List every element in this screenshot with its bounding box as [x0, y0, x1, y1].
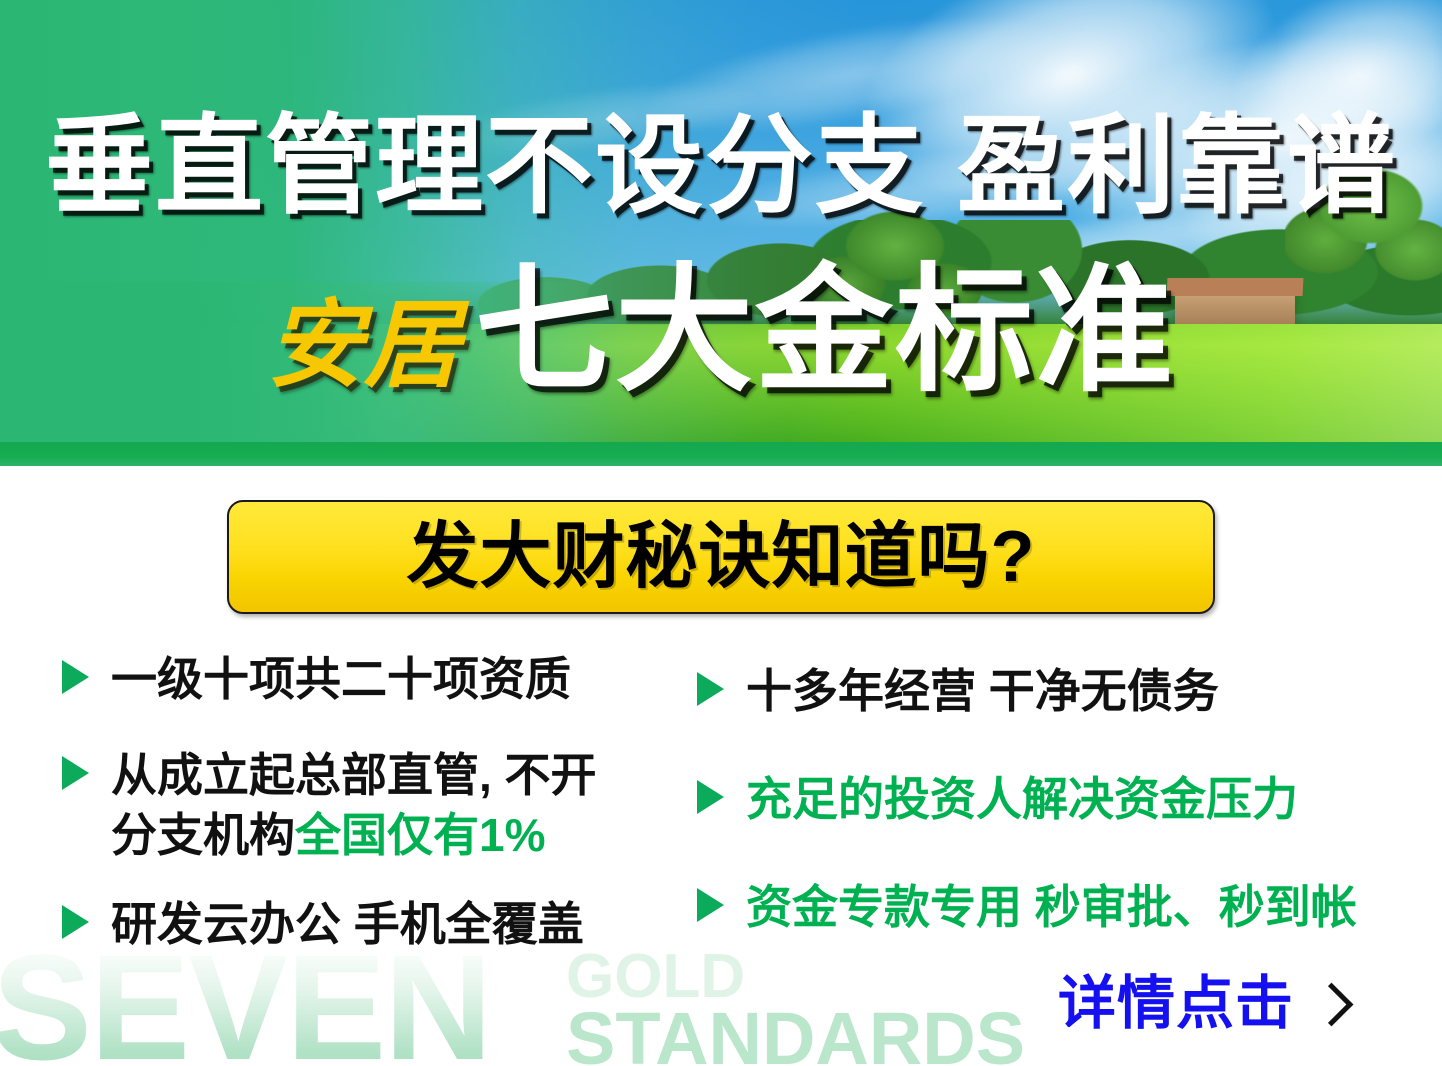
hero-bottom-strip [0, 442, 1442, 466]
feature-column-right: 十多年经营 干净无债务 充足的投资人解决资金压力 资金专款专用 秒审批、秒到帐 [697, 662, 1397, 985]
triangle-bullet-icon [697, 780, 724, 814]
feature-text-line1: 从成立起总部直管, 不开 [111, 749, 597, 801]
chevron-right-icon [1310, 982, 1354, 1026]
list-item: 一级十项共二十项资质 [62, 650, 702, 710]
feature-text: 十多年经营 干净无债务 [746, 662, 1219, 722]
feature-text-highlight: 全国仅有1% [295, 809, 545, 861]
promo-poster: 垂直管理不设分支 盈利靠谱 安居 七大金标准 发大财秘诀知道吗? 一级十项共二十… [0, 0, 1442, 1066]
hero-headline-primary: 垂直管理不设分支 盈利靠谱 [0, 112, 1442, 220]
triangle-bullet-icon [697, 672, 724, 706]
feature-text: 充足的投资人解决资金压力 [746, 770, 1298, 830]
watermark-standards-text: STANDARDS [566, 1002, 1025, 1066]
hero-headline-secondary: 安居 七大金标准 [0, 262, 1442, 400]
list-item: 研发云办公 手机全覆盖 [62, 895, 702, 955]
feature-text: 研发云办公 手机全覆盖 [111, 895, 584, 955]
list-item: 资金专款专用 秒审批、秒到帐 [697, 878, 1397, 938]
hero-banner: 垂直管理不设分支 盈利靠谱 安居 七大金标准 [0, 0, 1442, 466]
list-item: 十多年经营 干净无债务 [697, 662, 1397, 722]
details-cta-link[interactable]: 详情点击 [1058, 975, 1347, 1033]
cta-label: 详情点击 [1058, 975, 1294, 1033]
highlight-ribbon[interactable]: 发大财秘诀知道吗? [227, 500, 1215, 614]
feature-text: 从成立起总部直管, 不开分支机构全国仅有1% [111, 746, 597, 866]
hero-brand-text: 安居 [267, 298, 461, 394]
feature-columns: 一级十项共二十项资质 从成立起总部直管, 不开分支机构全国仅有1% 研发云办公 … [0, 650, 1442, 980]
feature-text: 一级十项共二十项资质 [111, 650, 571, 710]
hero-headline-main-text: 七大金标准 [475, 262, 1175, 400]
triangle-bullet-icon [62, 756, 89, 790]
ribbon-label: 发大财秘诀知道吗? [407, 521, 1036, 593]
triangle-bullet-icon [62, 660, 89, 694]
triangle-bullet-icon [62, 905, 89, 939]
feature-text: 资金专款专用 秒审批、秒到帐 [746, 878, 1357, 938]
feature-column-left: 一级十项共二十项资质 从成立起总部直管, 不开分支机构全国仅有1% 研发云办公 … [62, 650, 702, 989]
list-item: 从成立起总部直管, 不开分支机构全国仅有1% [62, 746, 702, 866]
list-item: 充足的投资人解决资金压力 [697, 770, 1397, 830]
feature-text-line2-plain: 分支机构 [111, 809, 295, 861]
triangle-bullet-icon [697, 888, 724, 922]
